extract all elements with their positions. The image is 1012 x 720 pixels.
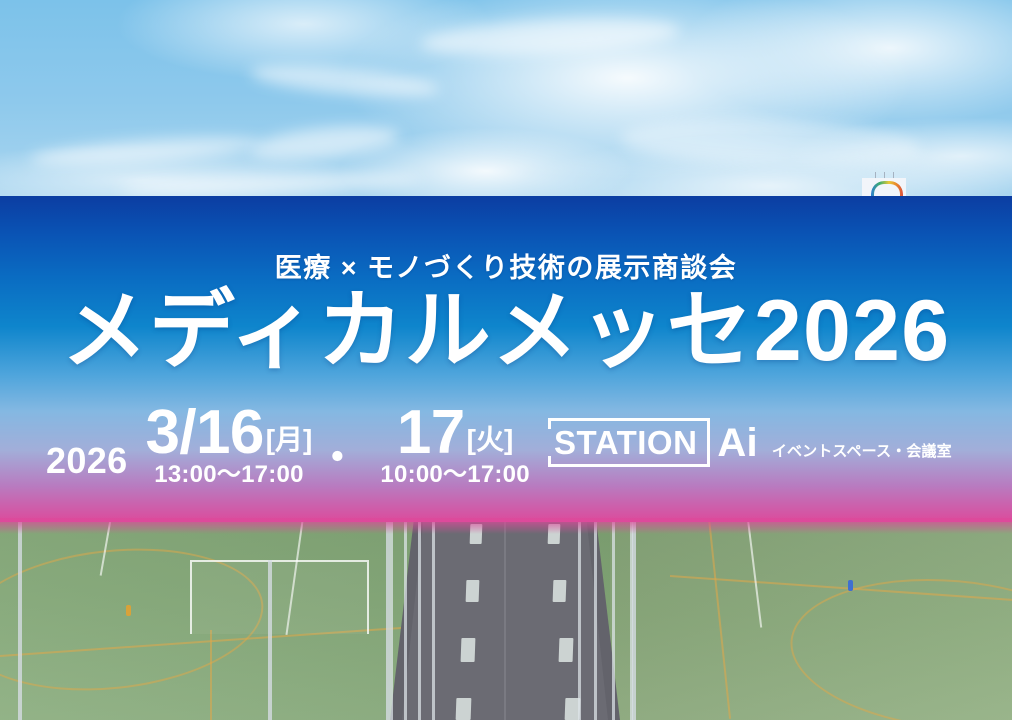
lane-dash	[456, 698, 472, 720]
day-1-weekday: [月]	[264, 426, 313, 461]
banner-content: 医療 × モノづくり技術の展示商談会 メディカルメッセ2026 2026 3/1…	[0, 196, 1012, 522]
lane-dash	[559, 638, 574, 662]
event-title: メディカルメッセ2026	[0, 288, 1012, 374]
event-date-row: 2026 3/16 [月] 13:00〜17:00 ・ 17 [火] 10:00…	[46, 404, 530, 487]
day-1-date: 3/16	[146, 404, 264, 461]
event-year: 2026	[46, 443, 128, 487]
cloud-wisp	[120, 170, 420, 198]
cloud-wisp	[249, 60, 441, 102]
cloud-wisp	[249, 120, 401, 166]
venue-subtitle: イベントスペース・会議室	[772, 440, 952, 467]
date-separator: ・	[312, 437, 362, 487]
event-dates: 3/16 [月] 13:00〜17:00 ・ 17 [火] 10:00〜17:0…	[128, 404, 530, 487]
cloud-wisp	[30, 132, 261, 170]
day-2-weekday: [火]	[465, 426, 514, 461]
day-2-date: 17	[397, 404, 465, 461]
day-2-main: 17 [火]	[397, 404, 513, 461]
day-1-time: 13:00〜17:00	[154, 463, 303, 487]
station-wordmark: STATION	[554, 426, 697, 459]
rainbow-arch-building-icon	[862, 172, 906, 198]
cloud-wisp	[419, 13, 680, 61]
event-day-1: 3/16 [月] 13:00〜17:00	[146, 404, 313, 487]
lane-dash	[466, 580, 480, 602]
station-logo-box: STATION	[548, 418, 710, 467]
day-2-time: 10:00〜17:00	[380, 463, 529, 487]
event-day-2: 17 [火] 10:00〜17:00	[380, 404, 529, 487]
ai-wordmark: Ai	[717, 423, 757, 463]
event-subtitle: 医療 × モノづくり技術の展示商談会	[0, 246, 1012, 285]
lane-dash	[461, 638, 476, 662]
floodlight-pole	[268, 560, 272, 720]
day-1-main: 3/16 [月]	[146, 404, 313, 461]
lane-dash	[553, 580, 567, 602]
event-banner: 医療 × モノづくり技術の展示商談会 メディカルメッセ2026 2026 3/1…	[0, 0, 1012, 720]
station-ai-logo: STATION Ai	[548, 418, 758, 467]
venue-block: STATION Ai イベントスペース・会議室	[548, 418, 952, 467]
cloud-wisp	[619, 115, 920, 171]
